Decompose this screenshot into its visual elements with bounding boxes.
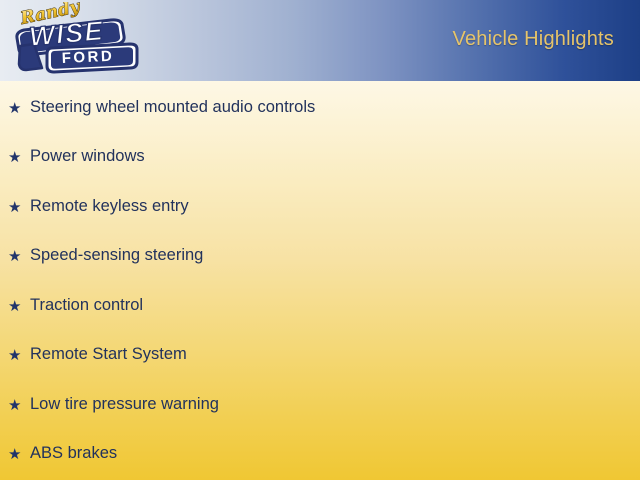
star-icon: ★ [8,347,30,363]
star-icon: ★ [8,298,30,314]
highlight-label: Power windows [30,147,145,167]
highlight-label: ABS brakes [30,444,117,464]
highlight-label: Speed-sensing steering [30,246,203,266]
list-item: ★ Traction control [0,281,640,331]
list-item: ★ Low tire pressure warning [0,380,640,430]
list-item: ★ Speed-sensing steering [0,232,640,282]
star-icon: ★ [8,446,30,462]
vehicle-highlights-list: ★ Steering wheel mounted audio controls … [0,83,640,479]
star-icon: ★ [8,149,30,165]
logo-ford-text: FORD [61,48,114,67]
randy-wise-ford-logo: WISE FORD Randy [8,2,140,78]
list-item: ★ Remote keyless entry [0,182,640,232]
highlight-label: Remote keyless entry [30,197,189,217]
highlight-label: Low tire pressure warning [30,395,219,415]
star-icon: ★ [8,100,30,116]
highlight-label: Steering wheel mounted audio controls [30,98,315,118]
list-item: ★ ABS brakes [0,430,640,480]
star-icon: ★ [8,199,30,215]
star-icon: ★ [8,248,30,264]
page-title: Vehicle Highlights [453,28,614,51]
list-item: ★ Remote Start System [0,331,640,381]
header-bar: WISE FORD Randy Vehicle Highlights [0,0,640,81]
highlight-label: Remote Start System [30,345,187,365]
list-item: ★ Power windows [0,133,640,183]
list-item: ★ Steering wheel mounted audio controls [0,83,640,133]
vehicle-highlights-slide: WISE FORD Randy Vehicle Highlights ★ Ste… [0,0,640,480]
highlight-label: Traction control [30,296,143,316]
star-icon: ★ [8,397,30,413]
